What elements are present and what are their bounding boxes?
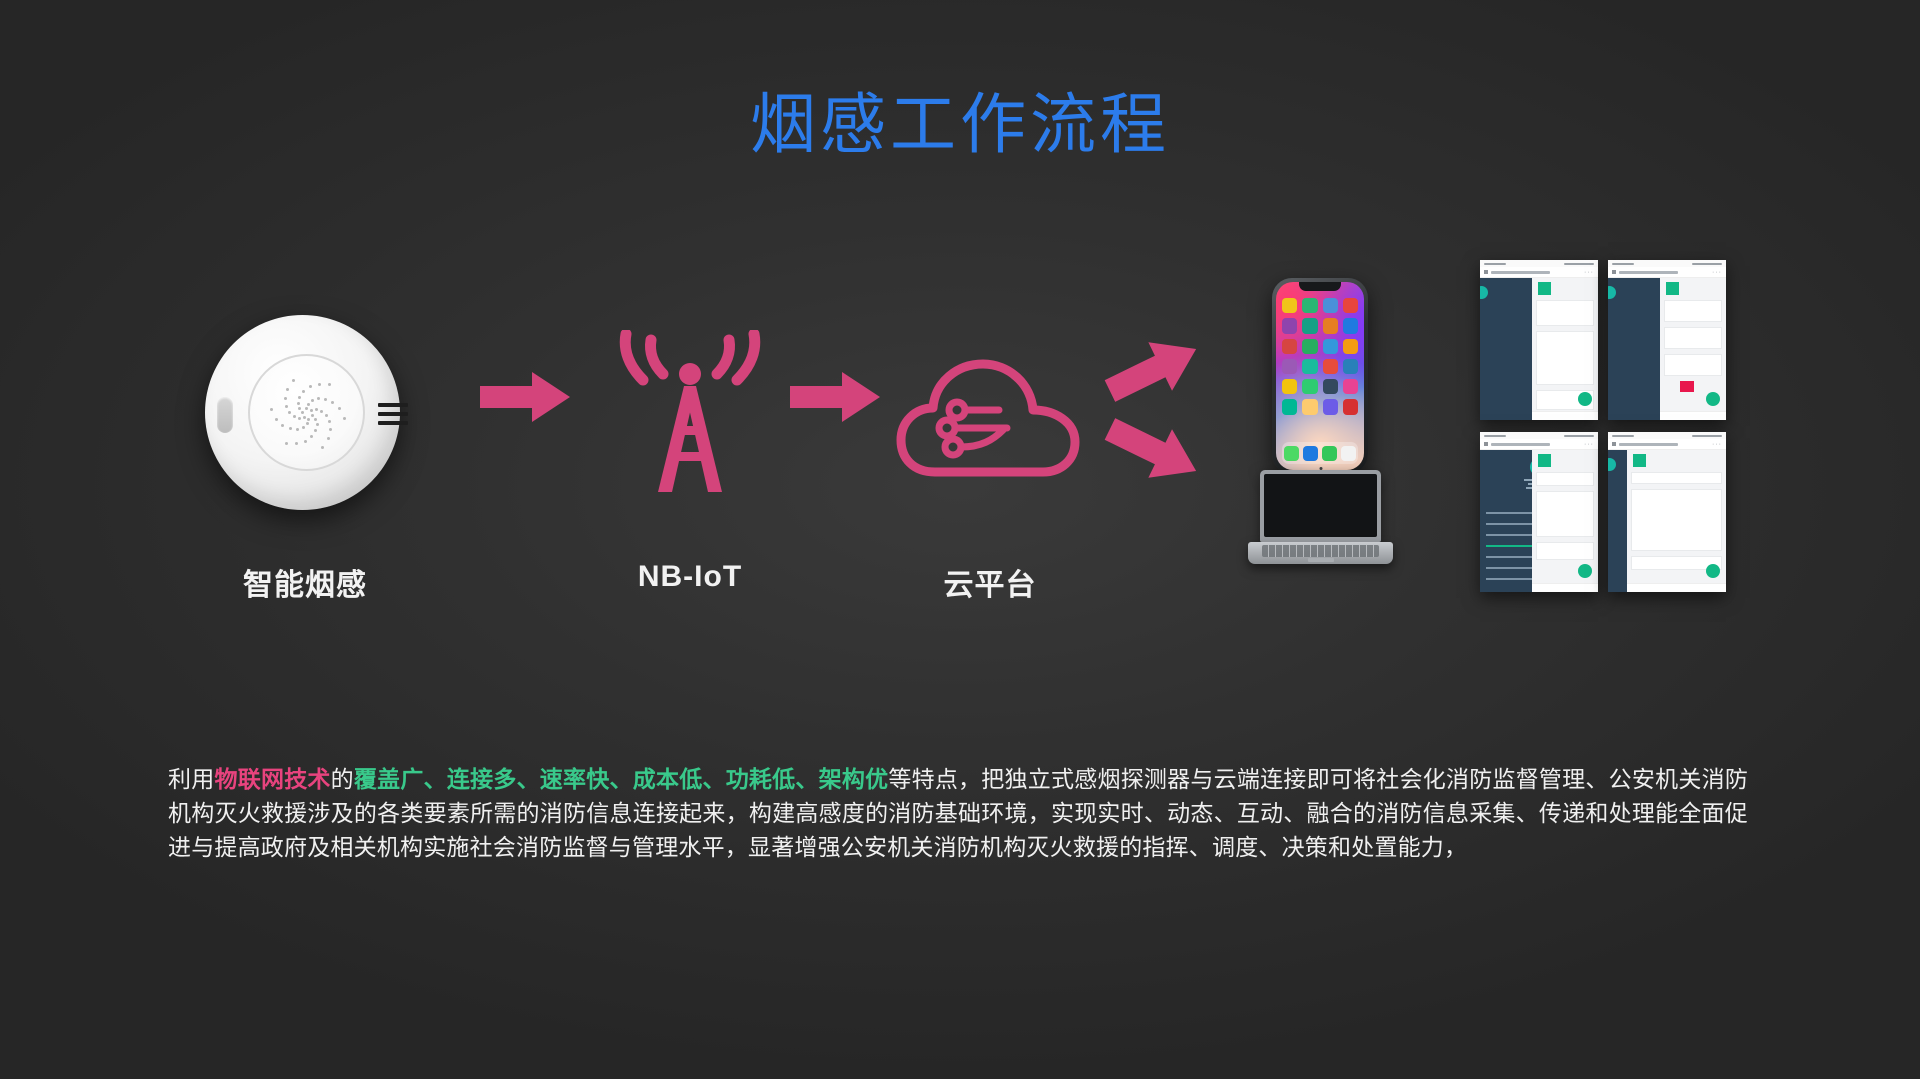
- output-devices-group: [1240, 270, 1440, 570]
- app-screenshots-group: ··· ···: [1480, 260, 1740, 600]
- avatar: [1608, 284, 1618, 301]
- app-screenshot-4: ···: [1608, 432, 1726, 592]
- app-card: [1536, 331, 1594, 385]
- fab-button[interactable]: [1578, 392, 1592, 406]
- app-screenshot-1: ···: [1480, 260, 1598, 420]
- cloud-icon: [895, 350, 1085, 490]
- laptop-base: [1248, 542, 1393, 564]
- app-card: [1536, 300, 1594, 326]
- app-main: [1532, 278, 1598, 420]
- app-body: [1608, 450, 1726, 592]
- laptop-keyboard: [1262, 545, 1379, 557]
- app-header: ···: [1608, 267, 1726, 278]
- flow-node-nb-iot: NB-IoT: [550, 280, 830, 580]
- app-main: [1532, 450, 1598, 592]
- app-footer: [1627, 583, 1726, 592]
- para-segment-plain: 的: [331, 766, 354, 792]
- more-icon: ···: [1584, 269, 1594, 276]
- app-card: [1664, 327, 1722, 349]
- detector-mesh: [263, 370, 349, 456]
- phone-dock: [1282, 442, 1358, 464]
- app-main: [1627, 450, 1726, 592]
- app-sidebar: [1608, 450, 1627, 592]
- para-highlight-features: 覆盖广、连接多、速率快、成本低、功耗低、架构优: [354, 766, 888, 792]
- app-sidebar: [1480, 278, 1532, 420]
- app-card: [1664, 354, 1722, 376]
- avatar: [1480, 284, 1490, 301]
- flow-node-label-smart-smoke-detector: 智能烟感: [190, 560, 420, 604]
- signal-tower-icon: [605, 330, 775, 500]
- detector-led-indicator: [217, 397, 233, 433]
- app-card: [1631, 489, 1722, 551]
- para-segment-plain: 利用: [168, 766, 214, 792]
- iphone-x-device: [1272, 278, 1368, 474]
- phone-app-grid: [1282, 298, 1358, 415]
- badge-icon: [1538, 282, 1551, 295]
- app-card: [1536, 472, 1594, 486]
- fab-button[interactable]: [1706, 392, 1720, 406]
- more-icon: ···: [1584, 441, 1594, 448]
- app-header: ···: [1480, 267, 1598, 278]
- phone-notch: [1299, 282, 1341, 291]
- phone-home-screen: [1276, 282, 1364, 470]
- laptop-camera-icon: [1319, 467, 1322, 470]
- app-header: ···: [1480, 439, 1598, 450]
- close-icon: [1612, 442, 1616, 446]
- status-bar: [1480, 260, 1598, 267]
- laptop-screen: [1264, 474, 1377, 537]
- app-card: [1631, 472, 1722, 484]
- close-icon: [1484, 442, 1488, 446]
- more-icon: ···: [1712, 269, 1722, 276]
- para-highlight-iot: 物联网技术: [214, 766, 330, 792]
- flow-node-smart-smoke-detector: 智能烟感: [190, 280, 420, 580]
- detector-vents: [378, 403, 408, 430]
- app-main: [1660, 278, 1726, 420]
- close-icon: [1612, 270, 1616, 274]
- flow-node-cloud-platform: 云平台: [850, 280, 1130, 580]
- app-header: ···: [1608, 439, 1726, 450]
- badge-icon: [1538, 454, 1551, 467]
- app-body: [1608, 278, 1726, 420]
- fab-button[interactable]: [1578, 564, 1592, 578]
- badge-icon: [1633, 454, 1646, 467]
- description-paragraph: 利用物联网技术的覆盖广、连接多、速率快、成本低、功耗低、架构优等特点，把独立式感…: [168, 762, 1748, 864]
- app-body: [1480, 450, 1598, 592]
- detector-inner-ring: [248, 354, 365, 471]
- app-footer: [1532, 583, 1598, 592]
- page-title: 烟感工作流程: [0, 88, 1920, 161]
- app-sidebar: [1480, 450, 1532, 592]
- flow-node-label-cloud-platform: 云平台: [850, 560, 1130, 604]
- status-bar: [1480, 432, 1598, 439]
- laptop-device: [1248, 470, 1393, 570]
- status-bar: [1608, 432, 1726, 439]
- smoke-detector-icon: [205, 315, 400, 510]
- close-icon: [1484, 270, 1488, 274]
- app-footer: [1660, 411, 1726, 420]
- app-screenshot-3: ···: [1480, 432, 1598, 592]
- fab-button[interactable]: [1706, 564, 1720, 578]
- workflow-diagram: 智能烟感 NB-IoT: [150, 270, 1790, 630]
- more-icon: ···: [1712, 441, 1722, 448]
- app-card: [1536, 542, 1594, 560]
- app-body: [1480, 278, 1598, 420]
- status-bar: [1608, 260, 1726, 267]
- app-footer: [1532, 411, 1598, 420]
- app-card: [1536, 491, 1594, 537]
- avatar: [1608, 456, 1618, 473]
- badge-icon: [1666, 282, 1679, 295]
- laptop-lid: [1260, 470, 1381, 542]
- app-card: [1664, 300, 1722, 322]
- laptop-trackpad: [1308, 558, 1334, 562]
- alert-block: [1680, 381, 1694, 392]
- app-screenshot-2: ···: [1608, 260, 1726, 420]
- flow-node-label-nb-iot: NB-IoT: [550, 560, 830, 594]
- app-sidebar: [1608, 278, 1660, 420]
